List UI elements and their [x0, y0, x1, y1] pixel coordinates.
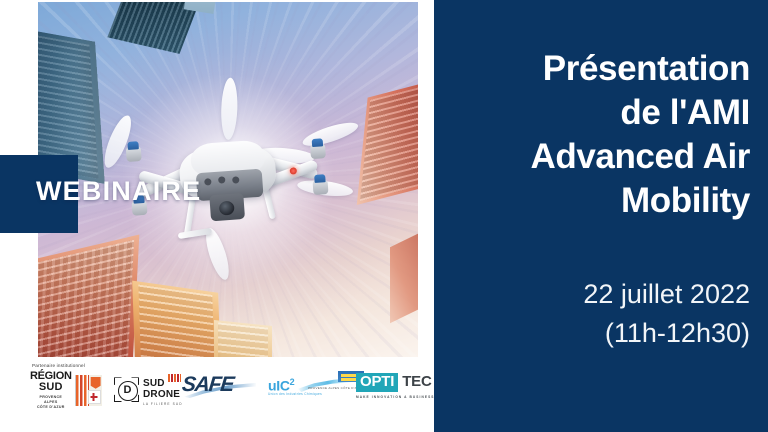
title-line-3: Advanced Air [448, 135, 750, 179]
uic2-wordmark: uIC2 [268, 378, 294, 393]
optitec-part1: OPTI [356, 373, 398, 392]
drone-vent [218, 176, 225, 183]
partner-caption: Partenaire institutionnel [32, 363, 85, 368]
region-sud-emblem [75, 375, 102, 406]
region-sud-cross-icon [91, 393, 98, 401]
sud-drone-line1: SUD [143, 374, 183, 390]
optitec-part2: TEC [398, 373, 431, 392]
sud-drone-line2: DRONE [143, 390, 183, 400]
title-line-2: de l'AMI [448, 91, 750, 135]
region-sud-crest-bottom [88, 390, 101, 404]
partner-logo-strip: Partenaire institutionnel RÉGION SUD PRO… [30, 363, 422, 413]
region-sud-crest-top [90, 377, 101, 389]
webinaire-label: WEBINAIRE [36, 178, 201, 205]
logo-region-sud: RÉGION SUD PROVENCEALPESCÔTE D'AZUR [30, 371, 102, 410]
region-sud-text: RÉGION SUD PROVENCEALPESCÔTE D'AZUR [30, 371, 72, 410]
sud-drone-text: SUD DRONE LA FILIERE SUD [143, 374, 183, 406]
webinar-poster: WEBINAIRE Présentation de l'AMI Advanced… [0, 0, 768, 432]
building-bottom-center [132, 281, 222, 357]
safe-wordmark: SAFE [181, 374, 234, 395]
drone-motor-top-right [310, 143, 326, 159]
drone-led-indicator [290, 167, 297, 174]
safe-wrap: SAFE [182, 373, 256, 401]
sud-drone-chip-icon [168, 374, 181, 382]
right-navy-panel: Présentation de l'AMI Advanced Air Mobil… [434, 0, 768, 432]
sud-drone-tagline: LA FILIERE SUD [143, 403, 183, 406]
drone-vent [204, 178, 211, 185]
sud-drone-mark-icon: D [114, 377, 139, 402]
title-line-4: Mobility [448, 179, 750, 223]
uic2-superscript: 2 [290, 377, 295, 387]
region-sud-line2: SUD [39, 382, 63, 393]
title-line-1: Présentation [448, 47, 750, 91]
event-date: 22 juillet 2022 (11h-12h30) [448, 275, 750, 352]
building-bottom-center-right [214, 320, 272, 357]
optitec-wrap: OPTI TEC MAKE INNOVATION A BUSINESS [356, 373, 435, 399]
optitec-tagline: MAKE INNOVATION A BUSINESS [356, 395, 435, 399]
drone-vent [232, 176, 239, 183]
uic2-wrap: uIC2 Union des Industries Chimiques PROV… [268, 369, 364, 403]
uic2-subtitle: Union des Industries Chimiques [268, 392, 322, 396]
drone-motor-bottom-right [312, 179, 328, 195]
logo-sud-drone: D SUD DRONE LA FILIERE SUD [114, 374, 183, 406]
sud-drone-letter: D [118, 381, 138, 401]
page-title: Présentation de l'AMI Advanced Air Mobil… [448, 47, 750, 223]
propeller-top-center [220, 77, 238, 140]
logo-uic2: uIC2 Union des Industries Chimiques PROV… [268, 369, 364, 403]
optitec-wordmark: OPTI TEC [356, 373, 435, 392]
date-line-2: (11h-12h30) [448, 314, 750, 352]
drone-camera-gimbal [209, 192, 245, 220]
logo-optitec: OPTI TEC MAKE INNOVATION A BUSINESS [356, 373, 435, 399]
drone-motor-top-left [126, 146, 142, 162]
date-line-1: 22 juillet 2022 [448, 275, 750, 313]
logo-safe: SAFE [182, 373, 256, 401]
region-sud-subtitle: PROVENCEALPESCÔTE D'AZUR [37, 395, 65, 410]
